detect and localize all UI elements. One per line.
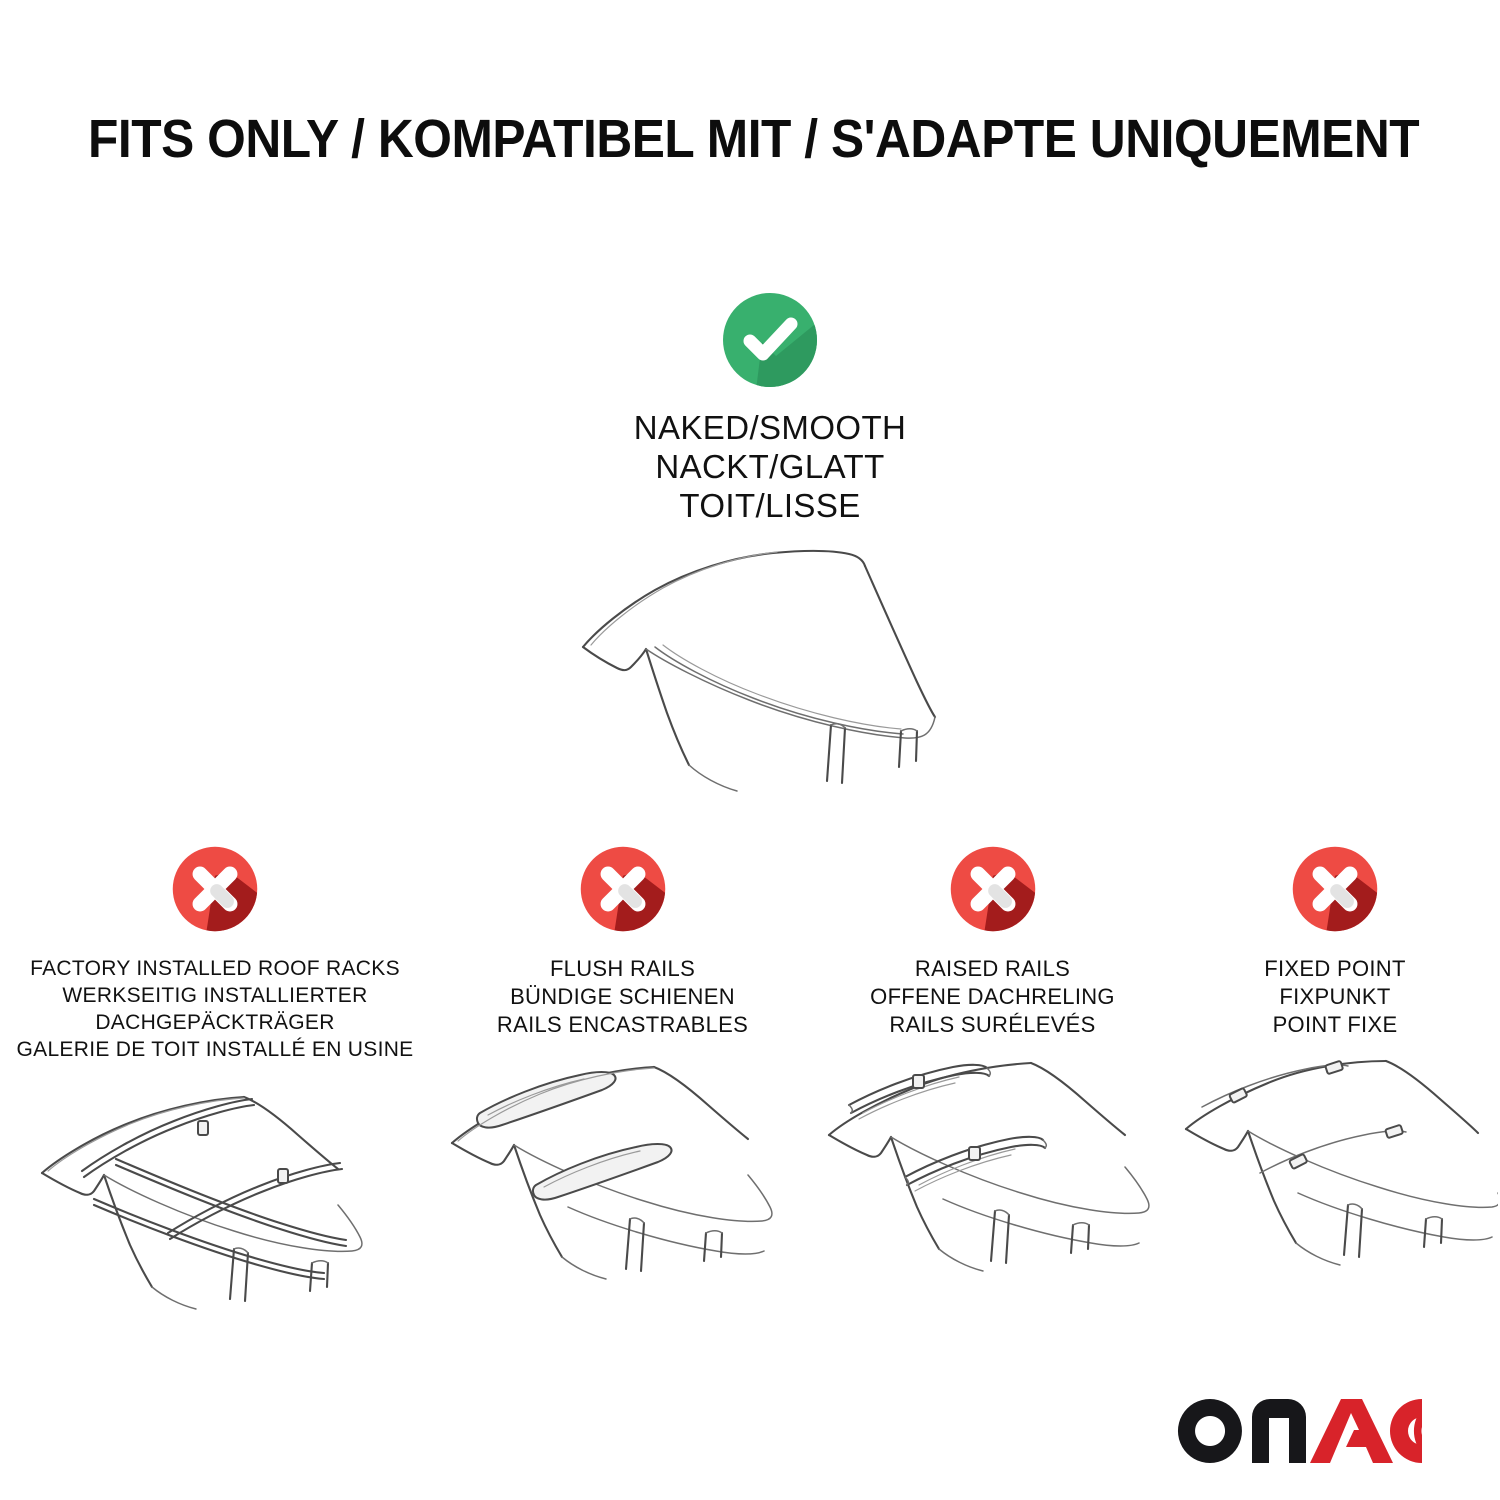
incompatible-label-1-line-2: BÜNDIGE SCHIENEN	[438, 983, 807, 1011]
incompatible-label-0-line-2: WERKSEITIG INSTALLIERTER	[12, 982, 418, 1009]
incompatible-label-0: FACTORY INSTALLED ROOF RACKS WERKSEITIG …	[12, 955, 418, 1063]
incompatible-label-0-line-1: FACTORY INSTALLED ROOF RACKS	[12, 955, 418, 982]
x-icon-wrapper-0	[12, 845, 418, 941]
x-circle-icon	[949, 845, 1037, 933]
x-icon-wrapper-1	[438, 845, 807, 941]
page-title: FITS ONLY / KOMPATIBEL MIT / S'ADAPTE UN…	[88, 110, 1321, 168]
omac-logo-letter-a	[1310, 1399, 1393, 1463]
car-roof-raised-rails-illustration	[819, 1057, 1166, 1287]
x-circle-icon	[1291, 845, 1379, 933]
incompatible-item-fixed-point: FIXED POINT FIXPUNKT POINT FIXE	[1170, 845, 1500, 1287]
compatible-roof-section: NAKED/SMOOTH NACKT/GLATT TOIT/LISSE	[505, 290, 1035, 805]
omac-logo-letter-o	[1178, 1399, 1242, 1463]
check-circle-icon	[720, 290, 820, 390]
incompatible-item-flush-rails: FLUSH RAILS BÜNDIGE SCHIENEN RAILS ENCAS…	[430, 845, 815, 1287]
incompatible-label-3-line-2: FIXPUNKT	[1178, 983, 1492, 1011]
compatible-label: NAKED/SMOOTH NACKT/GLATT TOIT/LISSE	[505, 408, 1035, 525]
x-icon-wrapper-3	[1178, 845, 1492, 941]
incompatible-label-3: FIXED POINT FIXPUNKT POINT FIXE	[1178, 955, 1492, 1039]
incompatible-label-1: FLUSH RAILS BÜNDIGE SCHIENEN RAILS ENCAS…	[438, 955, 807, 1039]
compatible-label-line-2: NACKT/GLATT	[505, 447, 1035, 486]
incompatible-item-factory-roof-racks: FACTORY INSTALLED ROOF RACKS WERKSEITIG …	[0, 845, 430, 1311]
incompatible-label-0-line-4: GALERIE DE TOIT INSTALLÉ EN USINE	[12, 1036, 418, 1063]
check-icon-wrapper	[505, 290, 1035, 390]
incompatible-item-raised-rails: RAISED RAILS OFFENE DACHRELING RAILS SUR…	[815, 845, 1170, 1287]
car-roof-fixed-point-illustration	[1178, 1057, 1492, 1287]
incompatible-label-2-line-3: RAILS SURÉLEVÉS	[819, 1011, 1166, 1039]
incompatible-label-1-line-3: RAILS ENCASTRABLES	[438, 1011, 807, 1039]
car-roof-flush-rails-illustration	[438, 1057, 807, 1287]
incompatible-label-2-line-2: OFFENE DACHRELING	[819, 983, 1166, 1011]
car-roof-factory-roof-racks-illustration	[12, 1081, 418, 1311]
x-icon-wrapper-2	[819, 845, 1166, 941]
compatible-label-line-1: NAKED/SMOOTH	[505, 408, 1035, 447]
incompatible-label-2: RAISED RAILS OFFENE DACHRELING RAILS SUR…	[819, 955, 1166, 1039]
incompatible-label-2-line-1: RAISED RAILS	[819, 955, 1166, 983]
incompatible-label-0-line-3: DACHGEPÄCKTRÄGER	[12, 1009, 418, 1036]
omac-logo	[1176, 1397, 1422, 1465]
incompatible-label-3-line-3: POINT FIXE	[1178, 1011, 1492, 1039]
x-circle-icon	[171, 845, 259, 933]
incompatible-roof-section: FACTORY INSTALLED ROOF RACKS WERKSEITIG …	[0, 845, 1500, 1311]
incompatible-label-1-line-1: FLUSH RAILS	[438, 955, 807, 983]
car-roof-naked-smooth-illustration	[505, 535, 1035, 805]
compatible-label-line-3: TOIT/LISSE	[505, 486, 1035, 525]
omac-logo-letter-m	[1252, 1399, 1306, 1463]
incompatible-label-3-line-1: FIXED POINT	[1178, 955, 1492, 983]
x-circle-icon	[579, 845, 667, 933]
